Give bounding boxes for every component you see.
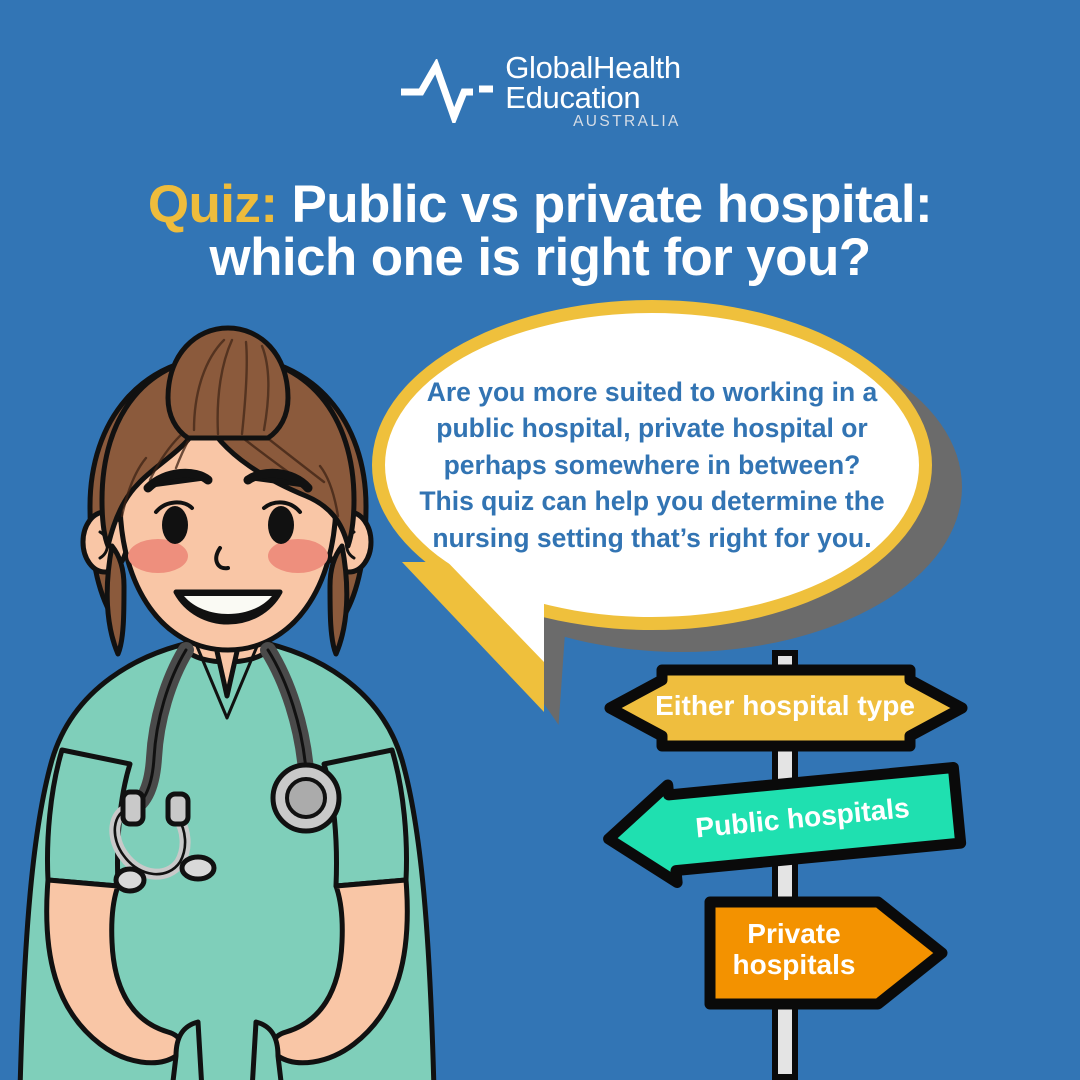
sign-private-hospitals[interactable]: Private hospitals (702, 892, 952, 1014)
logo-line-2: Education (505, 83, 640, 113)
ear-tip-left (123, 792, 143, 824)
title-highlight: Quiz: (148, 175, 277, 234)
signpost: Either hospital type Public hospitals Pr… (590, 650, 1020, 1080)
right-eye (268, 506, 294, 544)
title-rest-line1: Public vs private hospital: (277, 175, 932, 234)
brand-logo: GlobalHealth Education AUSTRALIA (0, 46, 1080, 136)
speech-bubble-tail-fill (424, 550, 544, 662)
heartbeat-pulse-icon (399, 59, 495, 123)
right-side-lock (330, 546, 347, 654)
poster-canvas: GlobalHealth Education AUSTRALIA Quiz: P… (0, 0, 1080, 1080)
left-blush (128, 539, 188, 573)
sign-either-hospital-type[interactable]: Either hospital type (600, 662, 970, 754)
right-blush (268, 539, 328, 573)
left-side-lock (107, 546, 124, 654)
speech-bubble-text: Are you more suited to working in a publ… (385, 374, 918, 557)
sign-public-hospitals[interactable]: Public hospitals (594, 754, 974, 893)
ear-tip-right (168, 794, 188, 824)
page-title: Quiz: Public vs private hospital: which … (60, 178, 1020, 284)
logo-line-3: AUSTRALIA (573, 114, 681, 129)
hair-bun (168, 328, 288, 438)
left-eye (162, 506, 188, 544)
logo-line-1: GlobalHealth (505, 53, 681, 83)
title-line2: which one is right for you? (209, 228, 870, 287)
